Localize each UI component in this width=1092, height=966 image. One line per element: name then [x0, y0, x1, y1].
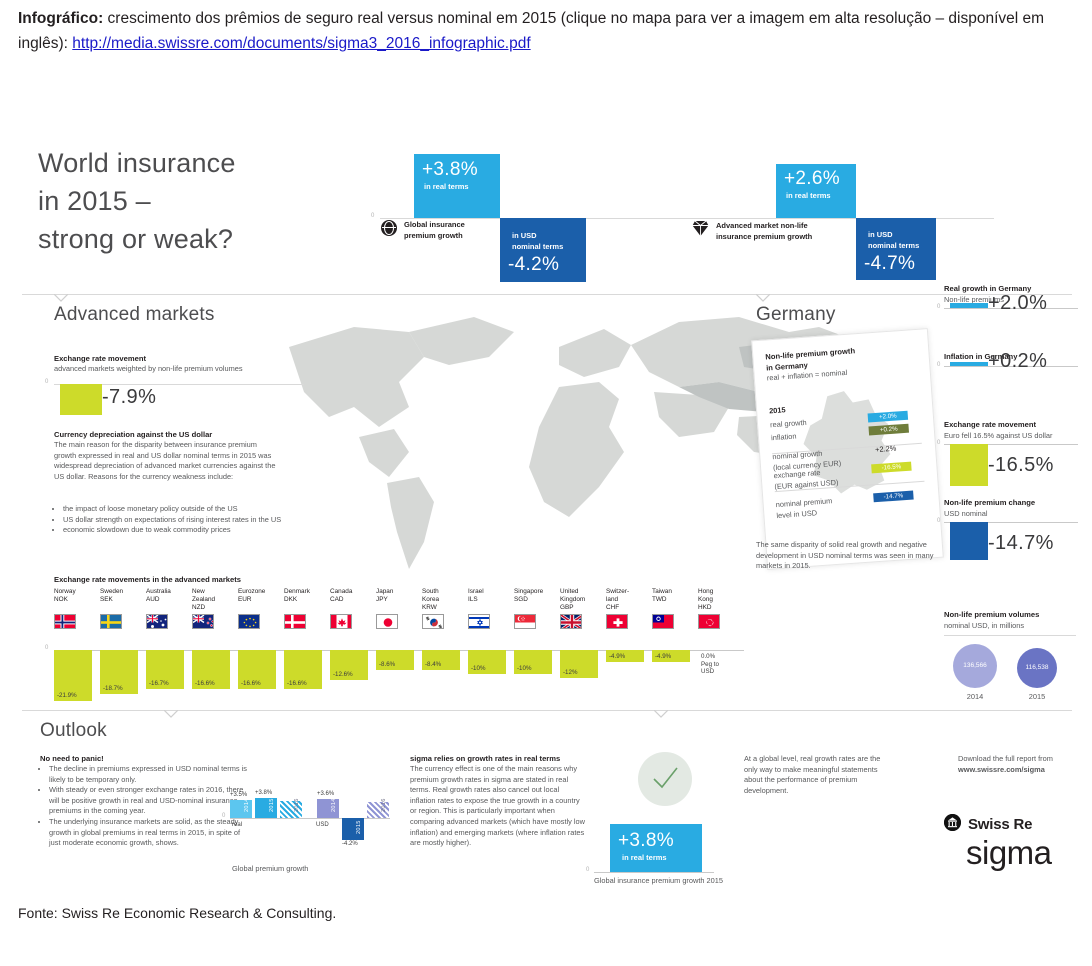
- outlook-bullets: The decline in premiums expressed in USD…: [40, 764, 249, 849]
- currency-bullet: economic slowdown due to weak commodity …: [63, 525, 291, 536]
- flag-icon-au: [146, 614, 168, 629]
- sigma-wordmark: sigma: [966, 834, 1052, 872]
- fx-movement-value: -7.9%: [102, 386, 156, 409]
- volume-circle: 116,538: [1017, 648, 1057, 688]
- mini-group-label: USD: [316, 822, 329, 828]
- fx-bar-value: -18.7%: [103, 685, 123, 692]
- section-title-germany: Germany: [756, 304, 836, 326]
- check-baseline: [594, 872, 714, 873]
- caption: Infográfico: crescimento dos prêmios de …: [18, 6, 1076, 56]
- mini-bar-value: -4.2%: [342, 841, 358, 847]
- check-label: Global insurance premium growth 2015: [594, 876, 764, 887]
- fx-chart-zero: 0: [45, 645, 48, 651]
- germany-card-year: 2015: [769, 405, 786, 417]
- stat2-real-block: +2.6% in real terms: [776, 164, 856, 218]
- rail-stat-value: -14.7%: [988, 532, 1054, 555]
- rail-stat-value: +2.0%: [988, 292, 1047, 315]
- download-line1: Download the full report from: [958, 754, 1053, 763]
- mini-bar-value: +3.6%: [317, 791, 334, 797]
- section-title-outlook: Outlook: [40, 720, 107, 742]
- rail-stat-value: +0.2%: [988, 350, 1047, 373]
- rail-stat-bar: [950, 362, 988, 366]
- currency-bullets: the impact of loose monetary policy outs…: [54, 504, 291, 536]
- stat2-nominal-caption2: nominal terms: [868, 240, 936, 251]
- swiss-re-logo-mark: [944, 814, 961, 831]
- fx-country-label: JapanJPY: [376, 588, 420, 614]
- stat2-nominal-caption1: in USD: [868, 229, 936, 240]
- check-value: +3.8%: [618, 830, 702, 851]
- volume-year: 2015: [1006, 692, 1068, 703]
- rail-stat-zero: 0: [937, 518, 940, 524]
- mini-bar-year: 2016: [294, 798, 300, 812]
- mini-group-label: real: [232, 822, 242, 828]
- global-note: At a global level, real growth rates are…: [744, 754, 894, 796]
- global-premium-growth-chart: 0 Global premium growth +3.5%2014+3.8%20…: [230, 750, 398, 880]
- fx-country-label: SouthKoreaKRW: [422, 588, 466, 614]
- fx-bar-value: -4.9%: [655, 653, 671, 660]
- flag-icon-ca: [330, 614, 352, 629]
- section-divider-outlook: [22, 710, 1072, 711]
- title-line-1: World insurance: [38, 144, 368, 182]
- stat1-label-line1: Global insurance: [404, 220, 494, 231]
- infographic-link[interactable]: http://media.swissre.com/documents/sigma…: [72, 35, 530, 52]
- flag-icon-ch: [606, 614, 628, 629]
- fx-column: NorwayNOK: [54, 588, 98, 629]
- rail-stat-zero: 0: [937, 304, 940, 310]
- check-icon: [650, 764, 680, 794]
- currency-depreciation-body: The main reason for the disparity betwee…: [54, 440, 276, 482]
- mini-bar-year: 2016: [381, 798, 387, 812]
- stat1-real-caption: in real terms: [424, 181, 500, 192]
- flag-icon-hk: [698, 614, 720, 629]
- fx-bar-value: -16.6%: [287, 680, 307, 687]
- fx-country-label: SwedenSEK: [100, 588, 144, 614]
- download-note: Download the full report from www.swissr…: [958, 754, 1092, 775]
- fx-bar-value: 0.0%: [701, 653, 715, 660]
- volumes-sub: nominal USD, in millions: [944, 621, 1084, 632]
- fx-column: SingaporeSGD: [514, 588, 558, 629]
- stat2-real-value: +2.6%: [784, 168, 856, 189]
- chevron-down-icon: [164, 710, 178, 718]
- fx-bar-value: -16.7%: [149, 680, 169, 687]
- flag-icon-sg: [514, 614, 536, 629]
- fx-bar-value: -8.4%: [425, 661, 441, 668]
- stat2-baseline: [674, 218, 994, 219]
- fx-column: SwedenSEK: [100, 588, 144, 629]
- fx-column: AustraliaAUD: [146, 588, 190, 629]
- sigma-explainer-head: sigma relies on growth rates in real ter…: [410, 754, 588, 765]
- fx-column: NewZealandNZD: [192, 588, 236, 629]
- germany-note: The same disparity of solid real growth …: [756, 540, 938, 572]
- download-line2: www.swissre.com/sigma: [958, 765, 1045, 774]
- chevron-down-icon: [654, 710, 668, 718]
- flag-icon-kr: [422, 614, 444, 629]
- rail-stat-bar: [950, 522, 988, 560]
- mini-bar-year: 2015: [356, 820, 362, 834]
- fx-column: HongKongHKD: [698, 588, 742, 629]
- stat1-real-block: +3.8% in real terms: [414, 154, 500, 218]
- stat1-real-value: +3.8%: [422, 159, 500, 180]
- source-note: Fonte: Swiss Re Economic Research & Cons…: [18, 905, 336, 921]
- fx-column: Switzer-landCHF: [606, 588, 650, 629]
- volumes-head: Non-life premium volumes: [944, 610, 1084, 621]
- rail-stat-bar: [950, 444, 988, 486]
- fx-bar-value: -12%: [563, 669, 577, 676]
- fx-bar-value: -12.6%: [333, 671, 353, 678]
- stat1-label-line2: premium growth: [404, 231, 494, 242]
- chevron-down-icon: [54, 294, 68, 302]
- flag-icon-il: [468, 614, 490, 629]
- fx-bar-note: Peg toUSD: [701, 661, 719, 675]
- stat2-nominal-value: -4.7%: [864, 253, 936, 274]
- fx-country-label: HongKongHKD: [698, 588, 742, 614]
- fx-column: SouthKoreaKRW: [422, 588, 466, 629]
- rail-stat-bar: [950, 303, 988, 308]
- rail-stat: Exchange rate movementEuro fell 16.5% ag…: [944, 420, 1080, 498]
- caption-bold: Infográfico:: [18, 10, 103, 27]
- stat1-label: Global insurance premium growth: [404, 220, 494, 241]
- germany-row-value: +2.2%: [875, 444, 897, 456]
- fx-movement-zero: 0: [45, 379, 48, 385]
- fx-country-label: CanadaCAD: [330, 588, 374, 614]
- fx-column: CanadaCAD: [330, 588, 374, 629]
- gem-icon: [692, 220, 708, 236]
- infographic[interactable]: World insurance in 2015 – strong or weak…: [14, 132, 1080, 892]
- volume-item: 116,5382015: [1006, 648, 1068, 703]
- fx-column: IsraelILS: [468, 588, 512, 629]
- globe-icon: [381, 220, 397, 236]
- currency-bullet: the impact of loose monetary policy outs…: [63, 504, 291, 515]
- fx-bar-value: -21.9%: [57, 692, 77, 699]
- mini-chart-title: Global premium growth: [232, 864, 308, 875]
- infographic-title: World insurance in 2015 – strong or weak…: [38, 144, 368, 258]
- check-caption: in real terms: [622, 852, 702, 863]
- fx-country-label: NewZealandNZD: [192, 588, 236, 614]
- stat1-nominal-caption1: in USD: [512, 230, 586, 241]
- rail-stat-sub: Euro fell 16.5% against US dollar: [944, 431, 1080, 442]
- swiss-re-wordmark: Swiss Re: [968, 816, 1032, 833]
- sigma-explainer-body: The currency effect is one of the main r…: [410, 764, 586, 849]
- fx-country-label: IsraelILS: [468, 588, 512, 614]
- rail-stat-head: Exchange rate movement: [944, 420, 1080, 431]
- fx-country-label: UnitedKingdomGBP: [560, 588, 604, 614]
- fx-bar-value: -8.6%: [379, 661, 395, 668]
- fx-country-label: EurozoneEUR: [238, 588, 282, 614]
- flag-icon-nz: [192, 614, 214, 629]
- right-rail: Real growth in GermanyNon-life premiums0…: [944, 284, 1080, 576]
- fx-bar-value: -10%: [517, 665, 531, 672]
- outlook-bullet: With steady or even stronger exchange ra…: [49, 785, 249, 817]
- outlook-head: No need to panic!: [40, 754, 104, 765]
- mini-bar-year: 2015: [269, 798, 275, 812]
- fx-movement-bar: [60, 384, 102, 415]
- fx-country-label: SingaporeSGD: [514, 588, 558, 614]
- stat2-label: Advanced market non-life insurance premi…: [716, 221, 856, 242]
- flag-icon-se: [100, 614, 122, 629]
- title-line-2: in 2015 –: [38, 182, 368, 220]
- volume-circle: 136,566: [953, 644, 997, 688]
- outlook-bullet: The underlying insurance markets are sol…: [49, 817, 249, 849]
- mini-bar-value: +3.5%: [230, 792, 247, 798]
- mini-chart-zero: 0: [222, 813, 225, 819]
- fx-movement-sub: advanced markets weighted by non-life pr…: [54, 364, 294, 375]
- mini-bar-year: 2014: [244, 798, 250, 812]
- stat1-nominal-block: in USD nominal terms -4.2%: [500, 218, 586, 282]
- flag-icon-no: [54, 614, 76, 629]
- fx-country-label: NorwayNOK: [54, 588, 98, 614]
- currency-depreciation-head: Currency depreciation against the US dol…: [54, 430, 284, 441]
- germany-card-head: Non-life premium growth in Germany real …: [765, 342, 917, 384]
- volumes-circles: 136,5662014116,5382015: [944, 644, 1084, 704]
- stat2-real-caption: in real terms: [786, 190, 856, 201]
- germany-card: Non-life premium growth in Germany real …: [751, 328, 944, 570]
- currency-bullet: US dollar strength on expectations of ri…: [63, 515, 291, 526]
- fx-movement-head: Exchange rate movement: [54, 354, 284, 365]
- fx-bar-value: -10%: [471, 665, 485, 672]
- fx-bar-value: -16.6%: [241, 680, 261, 687]
- fx-column: JapanJPY: [376, 588, 420, 629]
- rail-stat: Non-life premium changeUSD nominal0-14.7…: [944, 498, 1080, 576]
- rail-stat: Inflation in Germany0+0.2%: [944, 352, 1080, 420]
- fx-bar-value: -4.9%: [609, 653, 625, 660]
- volume-item: 136,5662014: [944, 644, 1006, 703]
- flag-icon-jp: [376, 614, 398, 629]
- fx-country-label: DenmarkDKK: [284, 588, 328, 614]
- flag-icon-gb: [560, 614, 582, 629]
- rail-stat-sub: USD nominal: [944, 509, 1080, 520]
- fx-chart: 0 NorwayNOK-21.9%SwedenSEK-18.7%Australi…: [54, 588, 754, 718]
- fx-column: UnitedKingdomGBP: [560, 588, 604, 629]
- fx-bar-value: -16.6%: [195, 680, 215, 687]
- check-value-block: +3.8% in real terms: [610, 824, 702, 872]
- rail-stat-head: Non-life premium change: [944, 498, 1080, 509]
- flag-icon-dk: [284, 614, 306, 629]
- rail-stat-zero: 0: [937, 440, 940, 446]
- fx-chart-title: Exchange rate movements in the advanced …: [54, 575, 241, 586]
- fx-column: DenmarkDKK: [284, 588, 328, 629]
- stat2-label-line1: Advanced market non-life: [716, 221, 856, 232]
- fx-column: TaiwanTWD: [652, 588, 696, 629]
- check-zero: 0: [586, 867, 589, 873]
- mini-chart-baseline: [230, 818, 390, 819]
- section-title-advanced: Advanced markets: [54, 304, 215, 326]
- fx-country-label: TaiwanTWD: [652, 588, 696, 614]
- fx-country-label: AustraliaAUD: [146, 588, 190, 614]
- flag-icon-tw: [652, 614, 674, 629]
- volume-year: 2014: [944, 692, 1006, 703]
- rail-stat: Real growth in GermanyNon-life premiums0…: [944, 284, 1080, 352]
- mini-bar-value: +3.8%: [255, 790, 272, 796]
- outlook-bullet: The decline in premiums expressed in USD…: [49, 764, 249, 785]
- rail-stat-value: -16.5%: [988, 454, 1054, 477]
- stat1-nominal-value: -4.2%: [508, 254, 586, 275]
- rail-stat-zero: 0: [937, 362, 940, 368]
- stat1-nominal-caption2: nominal terms: [512, 241, 586, 252]
- stat2-nominal-block: in USD nominal terms -4.7%: [856, 218, 936, 280]
- fx-country-label: Switzer-landCHF: [606, 588, 650, 614]
- fx-column: EurozoneEUR: [238, 588, 282, 629]
- flag-icon-eu: [238, 614, 260, 629]
- mini-bar-year: 2014: [331, 798, 337, 812]
- volumes-divider: [944, 635, 1076, 636]
- stat1-zero-label: 0: [371, 213, 374, 219]
- volumes-block: Non-life premium volumes nominal USD, in…: [944, 610, 1084, 704]
- stat2-label-line2: insurance premium growth: [716, 232, 856, 243]
- title-line-3: strong or weak?: [38, 220, 368, 258]
